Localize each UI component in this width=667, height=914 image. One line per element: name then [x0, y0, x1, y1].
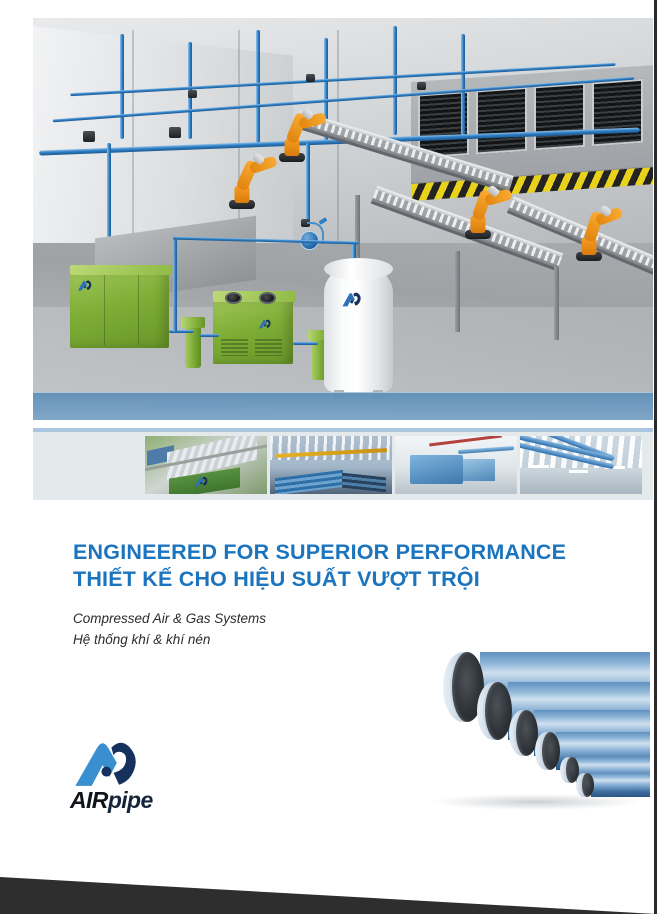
equipment-pipe [293, 342, 318, 345]
robot-arm [225, 151, 259, 209]
refrigerated-dryer [213, 299, 294, 363]
equipment-riser [173, 239, 177, 331]
pipe-drop [461, 34, 465, 135]
outlet-drop [107, 143, 111, 252]
wordmark-pipe: pipe [108, 787, 153, 813]
pipe-clamp [169, 127, 181, 138]
equipment-pipe [200, 334, 219, 337]
louver-panel [593, 79, 644, 147]
headline-english: ENGINEERED FOR SUPERIOR PERFORMANCE [73, 539, 613, 566]
hero-blue-band [33, 392, 653, 420]
pipe-drop [256, 30, 260, 143]
dryer-vent [255, 339, 282, 356]
red-service-line [429, 436, 502, 447]
conveyor-leg [554, 267, 559, 339]
right-edge-rule [654, 0, 657, 914]
pipe-body [591, 773, 650, 797]
compressor-top [70, 265, 172, 275]
pipe-clamp [306, 74, 315, 82]
thumbnail-list [145, 436, 653, 500]
pipe-opening [483, 682, 512, 740]
ceiling-lamp [530, 465, 550, 468]
brochure-page: ENGINEERED FOR SUPERIOR PERFORMANCE THIẾ… [0, 0, 667, 914]
pipe-clamp [417, 82, 426, 90]
panel-seam [138, 274, 139, 344]
louver-panel [476, 87, 527, 155]
compressor-unit [463, 459, 495, 481]
pipe-opening [540, 732, 560, 770]
airpipe-logo-on-dryer [258, 319, 272, 329]
airpipe-logo-on-tank [341, 292, 363, 307]
louver-panel [535, 83, 586, 151]
airpipe-logo: AIRpipe [70, 740, 190, 812]
robot-arm [461, 183, 495, 239]
subtitle-english: Compressed Air & Gas Systems [73, 608, 266, 629]
thumbnail-compressor-room [395, 436, 517, 494]
hero-scene [33, 18, 653, 420]
thumbnail-aerial-factory-campus [145, 436, 267, 494]
headline-vietnamese: THIẾT KẾ CHO HIỆU SUẤT VƯỢT TRỘI [73, 566, 613, 593]
pipe-clamp [83, 131, 95, 142]
bottom-dark-wedge [0, 830, 656, 914]
airpipe-logo-on-compressor [77, 280, 93, 291]
pipe-stack [342, 473, 386, 493]
blue-pipes-photo [424, 636, 650, 814]
pipe-drop [393, 26, 397, 135]
robot-arm [275, 106, 309, 162]
wordmark-air: AIR [70, 787, 108, 813]
pipe-clamp [188, 90, 197, 98]
thumbnail-cleanroom-pipe-runs [520, 436, 642, 494]
filter-head [181, 317, 206, 327]
robot-arm [572, 203, 606, 261]
dryer-vent [221, 339, 248, 356]
air-receiver-tank [324, 267, 392, 392]
pipe-drop [120, 34, 124, 139]
pipe-opening [580, 773, 594, 797]
air-duct [458, 446, 514, 454]
subtitle-vietnamese: Hệ thống khí & khí nén [73, 629, 266, 650]
air-compressor [70, 271, 169, 347]
pipe-stack [275, 470, 343, 494]
conveyor-leg [455, 251, 460, 331]
thumbnail-warehouse-pipe-stock [270, 436, 392, 494]
hero-image [33, 18, 653, 420]
airpipe-wordmark: AIRpipe [70, 789, 190, 812]
airpipe-logo-on-lawn [194, 476, 209, 487]
airpipe-chevron-mark [70, 740, 144, 788]
pipe-6 [579, 773, 650, 797]
panel-seam [104, 274, 105, 344]
thumbnail-strip [33, 428, 653, 500]
ceiling-lamp [569, 470, 589, 473]
compressor-unit [410, 455, 464, 484]
headline-block: ENGINEERED FOR SUPERIOR PERFORMANCE THIẾ… [73, 539, 613, 593]
tank-dome [324, 258, 392, 280]
subtitle-block: Compressed Air & Gas Systems Hệ thống kh… [73, 608, 266, 650]
